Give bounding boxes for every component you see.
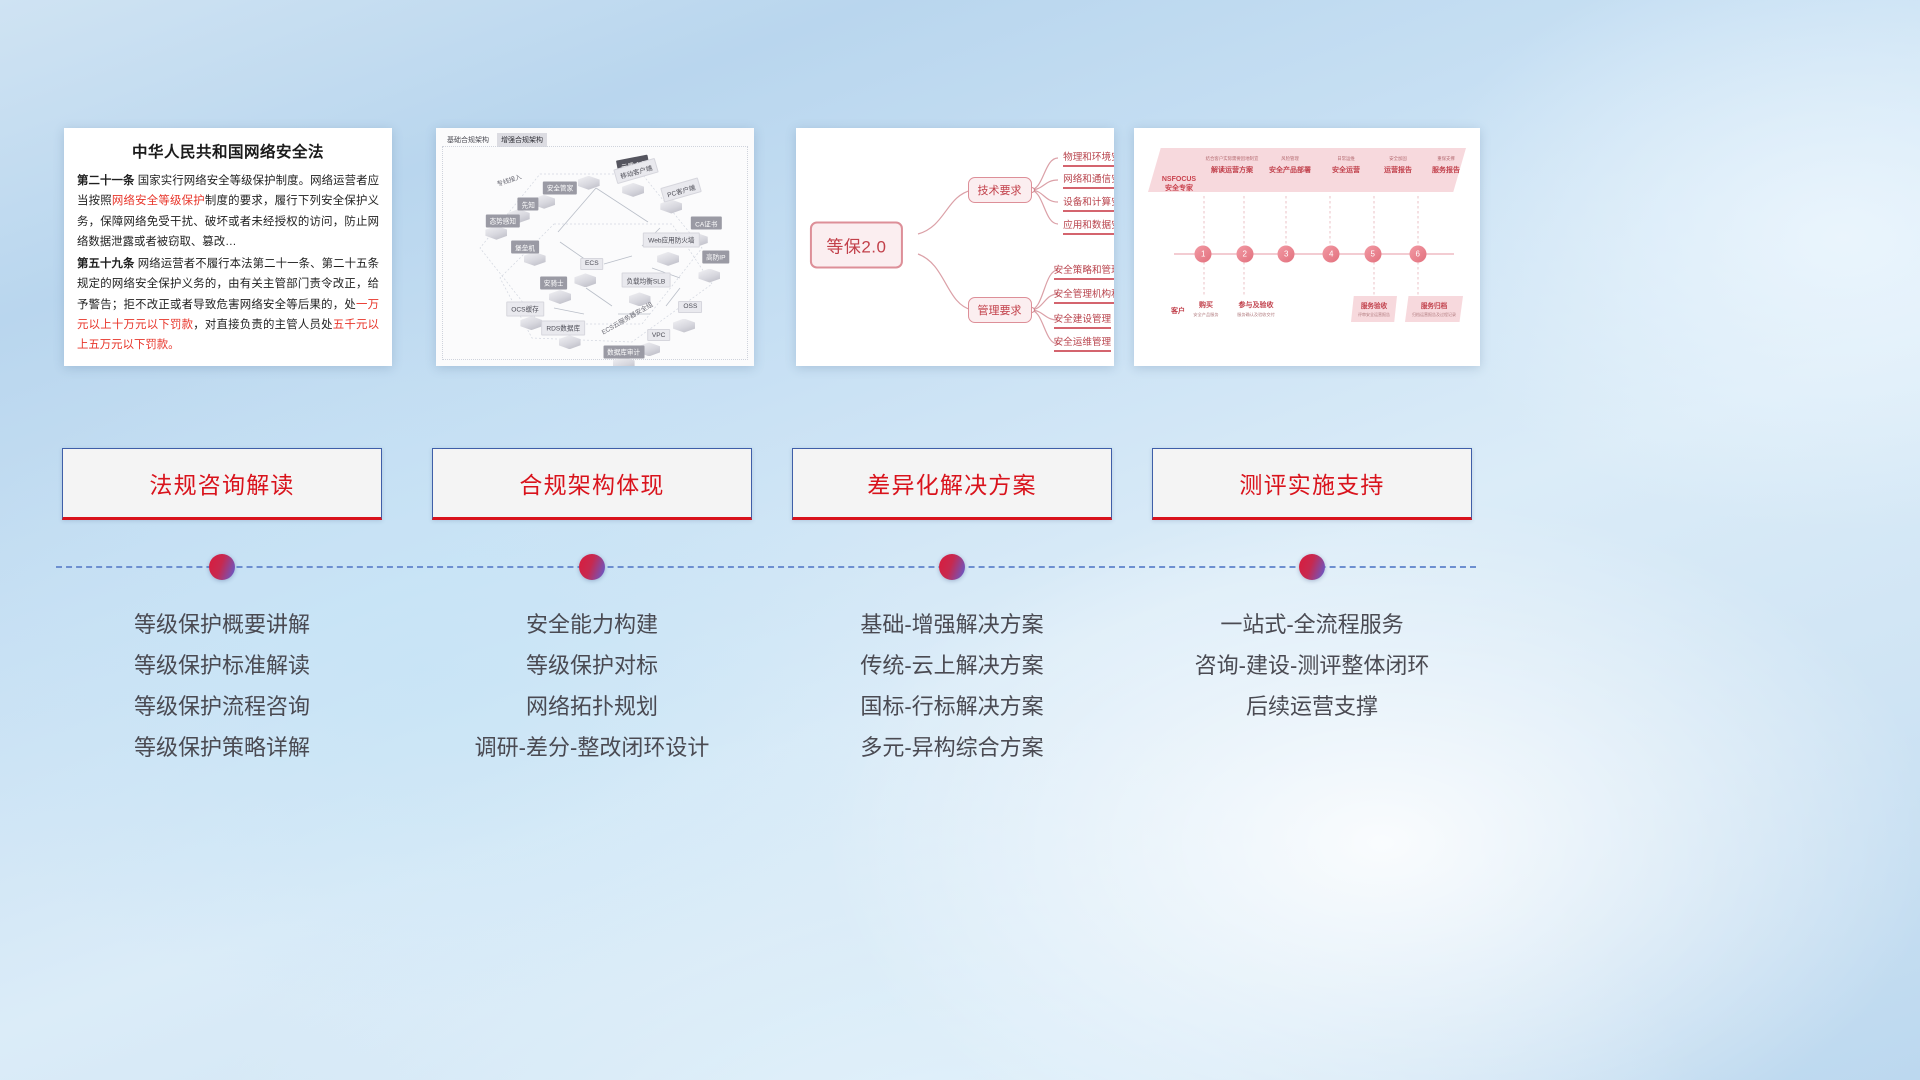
nsfocus-step-circle-2[interactable]: 2 bbox=[1236, 246, 1253, 263]
mindmap-leaf-device-compute[interactable]: 设备和计算安全 bbox=[1063, 194, 1114, 212]
timeline bbox=[56, 566, 1476, 569]
nsfocus-footer-left-2-sub: 服务确认及验收交付 bbox=[1237, 312, 1275, 317]
list-item: 调研-差分-整改闭环设计 bbox=[432, 728, 752, 769]
arch-label-bastion-host: 堡垒机 bbox=[511, 241, 539, 254]
nsfocus-step-circle-5[interactable]: 5 bbox=[1364, 246, 1381, 263]
mindmap-leaf-network-comm[interactable]: 网络和通信安全 bbox=[1063, 171, 1114, 189]
nsfocus-footer-left-1-sub: 安全产品服务 bbox=[1193, 312, 1218, 317]
nsfocus-footer-right-1-title: 服务验收 bbox=[1358, 300, 1390, 310]
nsfocus-step-circle-4[interactable]: 4 bbox=[1323, 246, 1340, 263]
heading-compliance-architecture-label: 合规架构体现 bbox=[519, 466, 664, 500]
list-item: 安全能力构建 bbox=[432, 605, 752, 646]
timeline-dot-2[interactable] bbox=[579, 554, 605, 580]
mindmap-leaf-org-personnel[interactable]: 安全管理机构和人员 bbox=[1054, 286, 1114, 304]
slide-canvas: 中华人民共和国网络安全法 第二十一条 国家实行网络安全等级保护制度。网络运营者应… bbox=[0, 0, 1920, 1080]
nsfocus-service-flow: NSFOCUS 安全专家 结合客户实际需要因地制宜 解读运营方案 风险管理 安全… bbox=[1134, 128, 1480, 366]
mindmap-leaf-physical-env[interactable]: 物理和环境安全 bbox=[1063, 149, 1114, 167]
detail-column-4: 一站式-全流程服务 咨询-建设-测评整体闭环 后续运营支撑 bbox=[1152, 605, 1472, 728]
arch-label-vpc: VPC bbox=[647, 329, 671, 341]
heading-differentiated-solution-label: 差异化解决方案 bbox=[867, 466, 1036, 500]
heading-regulation-consulting[interactable]: 法规咨询解读 bbox=[62, 448, 382, 520]
timeline-dot-4[interactable] bbox=[1299, 554, 1325, 580]
law-article-59: 第五十九条 网络运营者不履行本法第二十一条、第二十五条规定的网络安全保护义务的，… bbox=[77, 254, 379, 355]
architecture-diagram: 基础合规架构 增强合规架构 bbox=[436, 128, 754, 366]
nsfocus-step-circle-1[interactable]: 1 bbox=[1195, 246, 1212, 263]
nsfocus-footer-right-2: 服务归档 归档运营报告及过程记录 bbox=[1405, 296, 1463, 322]
list-item: 后续运营支撑 bbox=[1152, 687, 1472, 728]
detail-column-3: 基础-增强解决方案 传统-云上解决方案 国标-行标解决方案 多元-异构综合方案 bbox=[792, 605, 1112, 769]
arch-label-waf: Web应用防火墙 bbox=[643, 232, 699, 247]
mindmap-branch-management[interactable]: 管理要求 bbox=[968, 297, 1032, 323]
nsfocus-footer-left-1-title: 购买 bbox=[1193, 300, 1218, 310]
arch-label-anti-ddos: 高防IP bbox=[702, 250, 729, 263]
mindmap: 等保2.0 技术要求 管理要求 物理和环境安全 网络和通信安全 设备和计算安全 … bbox=[796, 128, 1114, 366]
mindmap-root-node[interactable]: 等保2.0 bbox=[810, 221, 902, 268]
arch-label-rds: RDS数据库 bbox=[541, 320, 585, 335]
heading-compliance-architecture[interactable]: 合规架构体现 bbox=[432, 448, 752, 520]
list-item: 等级保护策略详解 bbox=[62, 728, 382, 769]
arch-label-ca-cert: CA证书 bbox=[691, 217, 721, 230]
nsfocus-footer-left-1: 购买 安全产品服务 bbox=[1193, 300, 1218, 317]
card-dengbao-mindmap[interactable]: 等保2.0 技术要求 管理要求 物理和环境安全 网络和通信安全 设备和计算安全 … bbox=[796, 128, 1114, 366]
heading-differentiated-solution[interactable]: 差异化解决方案 bbox=[792, 448, 1112, 520]
arch-label-ocs-cache: OCS缓存 bbox=[506, 301, 543, 316]
mindmap-leaf-app-data[interactable]: 应用和数据安全 bbox=[1063, 217, 1114, 235]
article-21-highlight: 网络安全等级保护 bbox=[112, 195, 205, 207]
heading-regulation-consulting-label: 法规咨询解读 bbox=[149, 466, 294, 500]
nsfocus-footer-right-1: 服务验收 评审安全运营报告 bbox=[1351, 296, 1397, 322]
heading-assessment-support[interactable]: 测评实施支持 bbox=[1152, 448, 1472, 520]
heading-row: 法规咨询解读 合规架构体现 差异化解决方案 测评实施支持 bbox=[0, 448, 1920, 520]
mindmap-leaf-construction-mgmt[interactable]: 安全建设管理 bbox=[1054, 311, 1112, 329]
article-59-label: 第五十九条 bbox=[77, 258, 134, 270]
nsfocus-step-circle-6[interactable]: 6 bbox=[1409, 246, 1426, 263]
list-item: 等级保护流程咨询 bbox=[62, 687, 382, 728]
card-compliance-architecture[interactable]: 基础合规架构 增强合规架构 bbox=[436, 128, 754, 366]
nsfocus-footer-left-2-title: 参与及验收 bbox=[1237, 300, 1275, 310]
timeline-dashed-line bbox=[56, 566, 1476, 568]
nsfocus-footer-left-2: 参与及验收 服务确认及验收交付 bbox=[1237, 300, 1275, 317]
arch-label-ecs: ECS bbox=[580, 258, 604, 270]
list-item: 基础-增强解决方案 bbox=[792, 605, 1112, 646]
architecture-connectors bbox=[436, 128, 754, 366]
law-title: 中华人民共和国网络安全法 bbox=[77, 140, 379, 162]
timeline-dot-1[interactable] bbox=[209, 554, 235, 580]
article-21-label: 第二十一条 bbox=[77, 175, 134, 187]
nsfocus-step-circle-3[interactable]: 3 bbox=[1278, 246, 1295, 263]
arch-label-security-butler: 安全管家 bbox=[543, 181, 577, 194]
card-assessment-support[interactable]: NSFOCUS 安全专家 结合客户实际需要因地制宜 解读运营方案 风险管理 安全… bbox=[1134, 128, 1480, 366]
customer-label: 客户 bbox=[1171, 306, 1185, 316]
arch-label-slb: 负载均衡SLB bbox=[621, 273, 670, 288]
article-59-text-b: ，对直接负责的主管人员处 bbox=[193, 319, 332, 331]
law-article-21: 第二十一条 国家实行网络安全等级保护制度。网络运营者应当按照网络安全等级保护制度… bbox=[77, 171, 379, 252]
card-cybersecurity-law[interactable]: 中华人民共和国网络安全法 第二十一条 国家实行网络安全等级保护制度。网络运营者应… bbox=[64, 128, 392, 366]
mindmap-branch-technical[interactable]: 技术要求 bbox=[968, 177, 1032, 203]
detail-column-2: 安全能力构建 等级保护对标 网络拓扑规划 调研-差分-整改闭环设计 bbox=[432, 605, 752, 769]
list-item: 国标-行标解决方案 bbox=[792, 687, 1112, 728]
list-item: 网络拓扑规划 bbox=[432, 687, 752, 728]
mindmap-leaf-operation-mgmt[interactable]: 安全运维管理 bbox=[1054, 334, 1112, 352]
card-row: 中华人民共和国网络安全法 第二十一条 国家实行网络安全等级保护制度。网络运营者应… bbox=[0, 128, 1920, 366]
nsfocus-footer-right-1-sub: 评审安全运营报告 bbox=[1358, 312, 1390, 318]
nsfocus-flow-lines bbox=[1134, 128, 1480, 366]
arch-label-db-audit: 数据库审计 bbox=[603, 345, 644, 358]
customer-label-wrap: 客户 bbox=[1171, 306, 1185, 316]
nsfocus-footer-right-2-sub: 归档运营报告及过程记录 bbox=[1412, 312, 1456, 318]
arch-label-oss: OSS bbox=[678, 301, 702, 313]
list-item: 传统-云上解决方案 bbox=[792, 646, 1112, 687]
list-item: 一站式-全流程服务 bbox=[1152, 605, 1472, 646]
list-item: 咨询-建设-测评整体闭环 bbox=[1152, 646, 1472, 687]
detail-column-1: 等级保护概要讲解 等级保护标准解读 等级保护流程咨询 等级保护策略详解 bbox=[62, 605, 382, 769]
list-item: 等级保护概要讲解 bbox=[62, 605, 382, 646]
nsfocus-footer-right-2-title: 服务归档 bbox=[1412, 300, 1456, 310]
list-item: 等级保护标准解读 bbox=[62, 646, 382, 687]
list-item: 等级保护对标 bbox=[432, 646, 752, 687]
list-item: 多元-异构综合方案 bbox=[792, 728, 1112, 769]
arch-label-xianzhi: 先知 bbox=[518, 198, 539, 211]
mindmap-leaf-policy-system[interactable]: 安全策略和管理制度 bbox=[1054, 262, 1114, 280]
arch-label-anqishi: 安骑士 bbox=[540, 276, 568, 289]
law-document: 中华人民共和国网络安全法 第二十一条 国家实行网络安全等级保护制度。网络运营者应… bbox=[64, 128, 392, 366]
arch-label-situational-awareness: 态势感知 bbox=[486, 214, 520, 227]
heading-assessment-support-label: 测评实施支持 bbox=[1239, 466, 1384, 500]
timeline-dot-3[interactable] bbox=[939, 554, 965, 580]
